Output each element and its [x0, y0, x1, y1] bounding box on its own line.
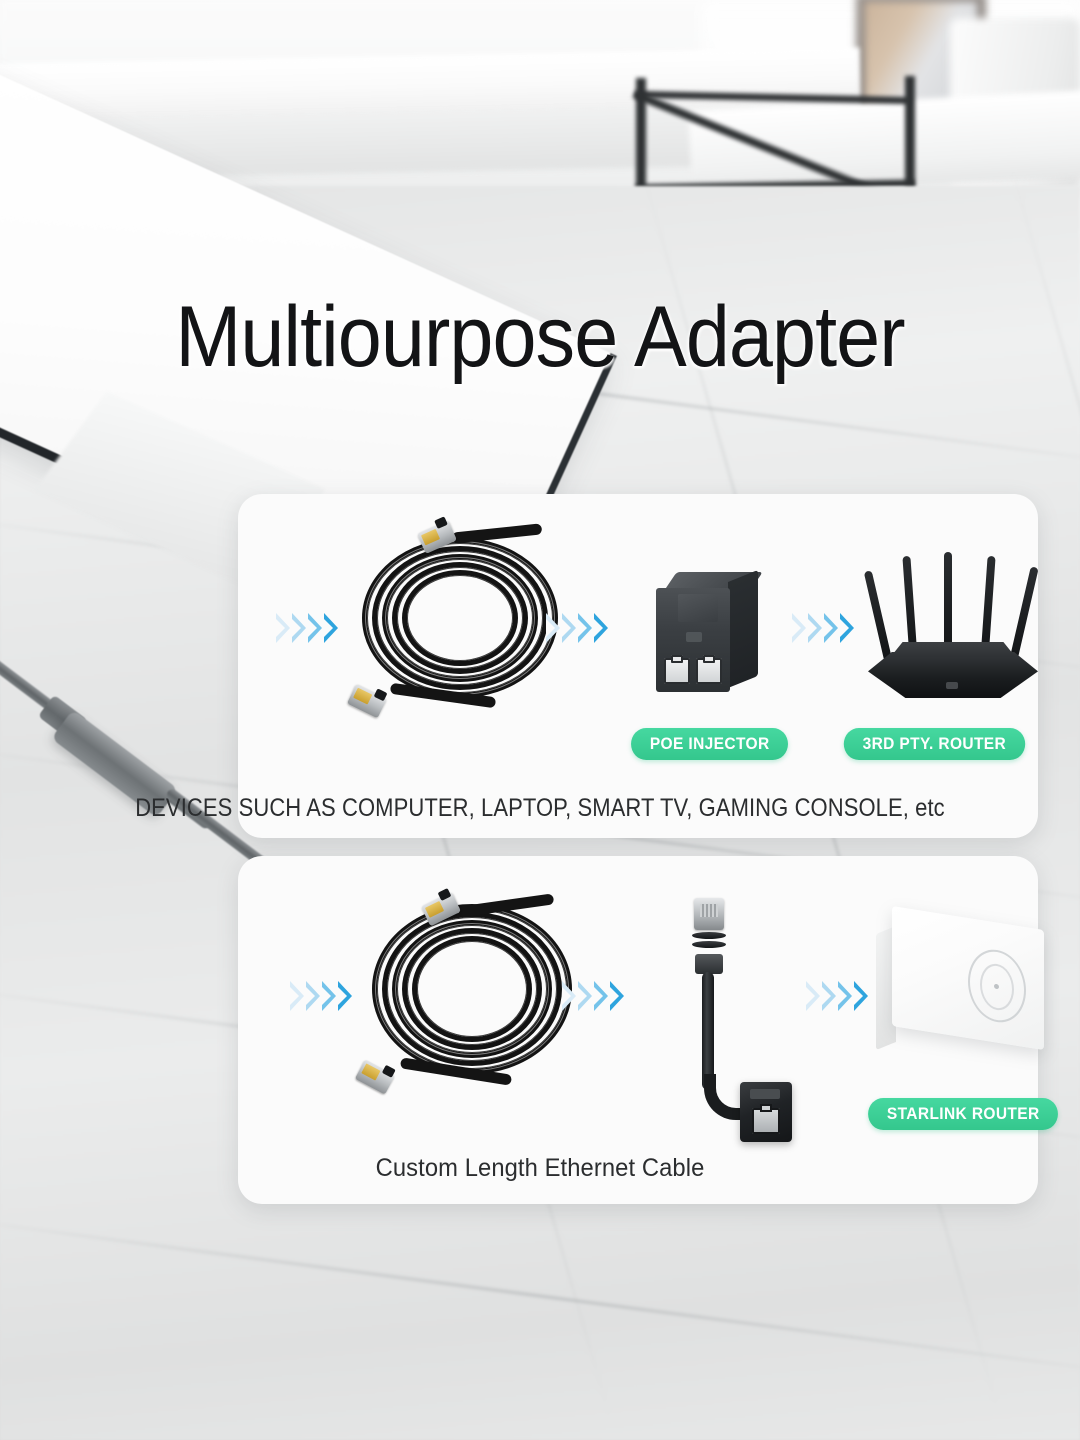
chevron-right-icon	[308, 613, 322, 643]
chevron-right-icon	[276, 613, 290, 643]
page-title: Multiourpose Adapter	[43, 288, 1037, 387]
rj45-connector	[347, 684, 387, 719]
arrow-group-3	[792, 613, 854, 643]
arrow-group-2	[546, 613, 608, 643]
adapter-collar	[695, 954, 723, 974]
rj45-jack	[752, 1108, 780, 1134]
router-emblem-dot	[994, 984, 999, 990]
chevron-right-icon	[838, 981, 852, 1011]
chevron-right-icon	[322, 981, 336, 1011]
chevron-right-icon	[610, 981, 624, 1011]
chevron-right-icon	[306, 981, 320, 1011]
status-badge-third-party-router: 3RD PTY. ROUTER	[844, 728, 1025, 760]
injector-side	[728, 570, 758, 688]
chevron-right-icon	[562, 613, 576, 643]
poe-chain-card: POE INJECTOR 3RD PTY. ROUTER	[238, 494, 1038, 838]
chevron-right-icon	[806, 981, 820, 1011]
rj45-connector	[355, 1059, 395, 1094]
adapter-rib	[692, 932, 726, 939]
chevron-right-icon	[546, 613, 560, 643]
rj45-port	[696, 658, 722, 684]
chevron-right-icon	[578, 613, 592, 643]
rj45-port	[664, 658, 690, 684]
third-party-router	[868, 550, 1046, 698]
chevron-right-icon	[792, 613, 806, 643]
injector-lid	[678, 594, 718, 622]
chevron-right-icon	[824, 613, 838, 643]
arrow-group-3	[806, 981, 868, 1011]
injector-logo	[686, 632, 702, 642]
chevron-right-icon	[854, 981, 868, 1011]
chevron-right-icon	[292, 613, 306, 643]
chevron-right-icon	[338, 981, 352, 1011]
chevron-right-icon	[808, 613, 822, 643]
router-antenna	[864, 570, 892, 661]
chevron-right-icon	[822, 981, 836, 1011]
cable-lead	[452, 523, 543, 543]
poe-chain-caption: DEVICES SUCH AS COMPUTER, LAPTOP, SMART …	[65, 794, 1015, 823]
chevron-right-icon	[594, 613, 608, 643]
poe-injector	[656, 572, 760, 696]
arrow-group-1	[290, 981, 352, 1011]
starlink-router	[876, 918, 1056, 1058]
router-antenna	[1009, 566, 1038, 661]
adapter-wire	[702, 972, 714, 1090]
chevron-right-icon	[594, 981, 608, 1011]
rj45-female-coupler	[740, 1082, 792, 1142]
chevron-right-icon	[324, 613, 338, 643]
starlink-adapter	[676, 898, 806, 1148]
status-badge-starlink-router: STARLINK ROUTER	[868, 1098, 1058, 1130]
arrow-group-2	[562, 981, 624, 1011]
arrow-group-1	[276, 613, 338, 643]
router-led	[946, 682, 958, 689]
chevron-right-icon	[562, 981, 576, 1011]
adapter-rib	[692, 941, 726, 948]
starlink-plug-connector	[694, 898, 724, 930]
starlink-chain-card: STARLINK ROUTER	[238, 856, 1038, 1204]
starlink-chain-caption: Custom Length Ethernet Cable	[27, 1154, 1053, 1183]
chevron-right-icon	[840, 613, 854, 643]
chevron-right-icon	[290, 981, 304, 1011]
router-body	[868, 652, 1038, 698]
chevron-right-icon	[578, 981, 592, 1011]
status-badge-poe-injector: POE INJECTOR	[631, 728, 788, 760]
